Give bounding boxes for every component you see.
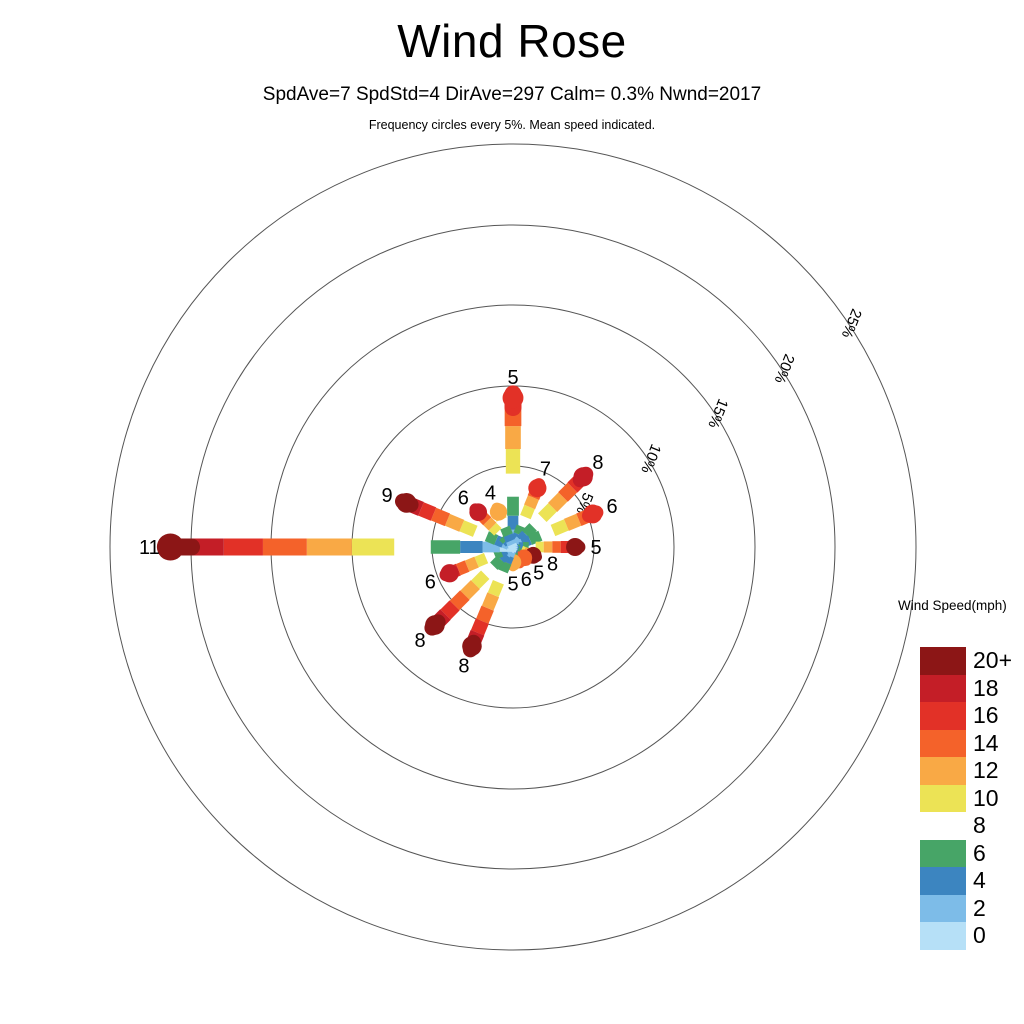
petal-SW-bin-8: [445, 605, 454, 614]
legend-label: 18: [973, 677, 999, 700]
petal-WSW-bin-5: [477, 558, 486, 562]
petal-WSW-bin-6: [467, 562, 477, 566]
legend-row: 6: [898, 840, 1024, 868]
mean-speed-label-NW: 6: [458, 487, 469, 509]
legend-swatch-4: [920, 867, 966, 895]
legend-label: 10: [973, 787, 999, 810]
petal-SSW-bin-4: [498, 571, 502, 582]
petal-tip-NW: [469, 503, 487, 521]
mean-speed-label-WSW: 6: [425, 571, 436, 593]
petal-SW-bin-5: [475, 575, 485, 585]
mean-speed-label-E: 5: [591, 537, 602, 559]
mean-speed-labels: 57865856588611964: [139, 367, 618, 678]
mean-speed-label-WNW: 9: [382, 485, 393, 507]
petal-tip-E: [566, 538, 584, 556]
petal-SW-bin-7: [455, 595, 465, 605]
radial-label-20: 20%: [771, 352, 798, 386]
legend-swatch-12: [920, 757, 966, 785]
petal-NE-bin-5: [542, 507, 552, 517]
petal-NW-bin-6: [487, 521, 492, 526]
petal-NNE-bin-4: [522, 517, 526, 526]
legend-label: 16: [973, 704, 999, 727]
legend-row: 16: [898, 702, 1024, 730]
mean-speed-label-SSW: 8: [458, 655, 469, 677]
legend: Wind Speed(mph) 20+181614121086420: [898, 598, 1024, 950]
legend-row: 0: [898, 922, 1024, 950]
mean-speed-label-S: 5: [507, 573, 518, 595]
legend-swatch-0: [920, 922, 966, 950]
legend-label: 8: [973, 814, 986, 837]
mean-speed-label-SE: 5: [533, 563, 544, 585]
petal-NNW-bin-3: [505, 528, 508, 536]
petal-NNW-bin-0: [512, 545, 513, 547]
radial-label-25: 25%: [838, 306, 865, 340]
legend-rows: 20+181614121086420: [898, 647, 1024, 950]
petal-ENE-bin-5: [553, 525, 566, 531]
legend-title: Wind Speed(mph): [898, 598, 1024, 613]
petal-NW-bin-5: [493, 527, 498, 532]
petal-WSW-bin-7: [458, 566, 467, 570]
petal-ENE-bin-3: [530, 536, 540, 540]
legend-label: 20+: [973, 649, 1012, 672]
petal-SSW-bin-5: [493, 582, 498, 595]
petal-NNE-bin-6: [530, 498, 534, 507]
petal-SW-bin-6: [465, 585, 476, 596]
petal-NE-bin-6: [553, 497, 563, 507]
legend-label: 4: [973, 869, 986, 892]
radial-label-10: 10%: [637, 442, 664, 476]
petal-SW-bin-4: [485, 566, 494, 575]
legend-swatch-16: [920, 702, 966, 730]
legend-swatch-20plus: [920, 647, 966, 675]
mean-speed-label-SW: 8: [414, 630, 425, 652]
legend-label: 12: [973, 759, 999, 782]
legend-swatch-6: [920, 840, 966, 868]
petal-WSW-bin-4: [486, 555, 494, 558]
petal-tip-NNE: [528, 479, 546, 497]
petal-SSW-bin-7: [482, 608, 487, 621]
legend-row: 8: [898, 812, 1024, 840]
legend-label: 6: [973, 842, 986, 865]
mean-speed-label-W: 11: [139, 537, 160, 559]
petal-WNW-bin-7: [433, 514, 447, 520]
wind-rose-plot: 5%10%15%20%25% 57865856588611964: [0, 0, 1024, 1024]
radial-axis-labels: 5%10%15%20%25%: [572, 306, 864, 516]
petal-tip-WSW: [441, 564, 459, 582]
mean-speed-label-NE: 8: [592, 452, 603, 474]
mean-speed-label-NNE: 7: [540, 459, 551, 481]
petal-WNW-bin-6: [447, 520, 461, 526]
petal-tip-NNW: [490, 503, 507, 520]
petal-NNW-bin-1: [510, 541, 512, 545]
petal-tip-SSW: [462, 636, 482, 656]
legend-row: 10: [898, 785, 1024, 813]
petal-tip-NE: [573, 467, 592, 486]
petal-SSW-bin-6: [488, 595, 494, 608]
legend-row: 12: [898, 757, 1024, 785]
petal-tip-WNW: [397, 493, 417, 513]
petal-WNW-bin-3: [487, 536, 496, 540]
wind-rose-page: Wind Rose SpdAve=7 SpdStd=4 DirAve=297 C…: [0, 0, 1024, 1024]
legend-swatch-10: [920, 785, 966, 813]
mean-speed-label-ENE: 6: [607, 496, 618, 518]
radial-label-15: 15%: [704, 396, 731, 430]
mean-speed-label-SSE: 6: [521, 569, 532, 591]
legend-row: 14: [898, 730, 1024, 758]
petal-SSW-bin-8: [477, 621, 482, 633]
legend-swatch-2: [920, 895, 966, 923]
legend-label: 0: [973, 924, 986, 947]
mean-speed-label-NNW: 4: [485, 483, 496, 505]
mean-speed-label-ESE: 8: [547, 553, 558, 575]
legend-row: 20+: [898, 647, 1024, 675]
petal-NNW-bin-4: [502, 519, 505, 527]
mean-speed-label-N: 5: [507, 367, 518, 389]
petal-WNW-bin-8: [421, 509, 433, 514]
petal-tip-N: [503, 387, 524, 408]
petal-NE-bin-3: [526, 527, 533, 534]
petal-tip-W: [157, 533, 184, 560]
legend-row: 2: [898, 895, 1024, 923]
petal-tip-SW: [425, 615, 445, 635]
legend-row: 4: [898, 867, 1024, 895]
petal-SW-bin-3: [494, 559, 501, 566]
legend-swatch-18: [920, 675, 966, 703]
legend-label: 14: [973, 732, 999, 755]
petal-ENE-bin-6: [566, 520, 578, 525]
petal-NNE-bin-5: [525, 507, 529, 517]
legend-swatch-14: [920, 730, 966, 758]
petal-ENE-bin-4: [540, 530, 553, 535]
petal-WNW-bin-4: [475, 531, 487, 536]
legend-label: 2: [973, 897, 986, 920]
legend-row: 18: [898, 675, 1024, 703]
petal-tip-ENE: [583, 505, 602, 524]
wind-petals: [157, 387, 602, 655]
petal-WNW-bin-5: [462, 526, 475, 532]
petal-NE-bin-7: [563, 488, 572, 497]
petal-NE-bin-4: [533, 518, 542, 527]
petal-NNW-bin-2: [508, 535, 510, 541]
petal-SSW-bin-3: [503, 563, 507, 572]
legend-swatch-8: [920, 812, 966, 840]
